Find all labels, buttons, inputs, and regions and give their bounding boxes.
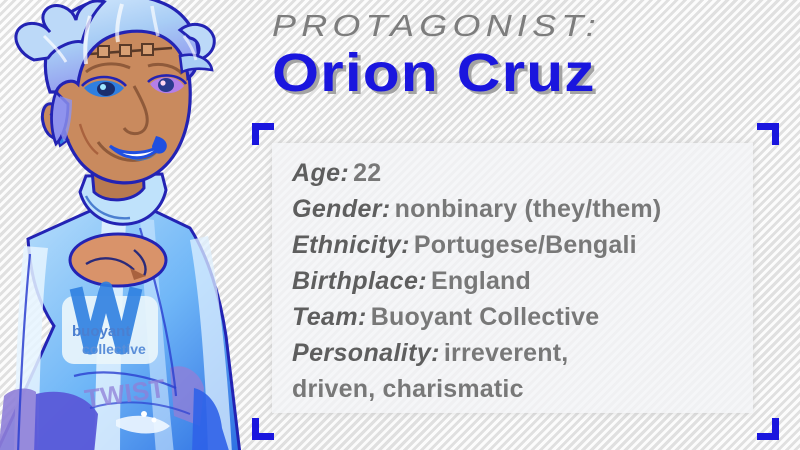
title-block: PROTAGONIST: Orion Cruz <box>272 8 792 112</box>
bracket-arm-vertical <box>772 123 779 145</box>
tattoo-box-3 <box>142 44 153 55</box>
page-title: Orion Cruz <box>272 42 800 104</box>
info-label: Birthplace: <box>292 267 427 295</box>
info-label: Gender: <box>292 195 391 223</box>
suit-emblem-dot-2 <box>152 418 157 423</box>
info-value: 22 <box>353 159 381 187</box>
tattoo-box-1 <box>98 46 109 57</box>
corner-bracket-top-right <box>757 123 779 145</box>
info-value: driven, charismatic <box>292 375 524 403</box>
character-portrait: buoyant collective TWIST <box>0 0 256 450</box>
page-kicker: PROTAGONIST: <box>272 8 800 44</box>
info-row-birthplace: Birthplace:England <box>292 263 753 299</box>
info-value: nonbinary (they/them) <box>395 195 662 223</box>
info-value: Portugese/Bengali <box>414 231 637 259</box>
info-row-age: Age:22 <box>292 155 753 191</box>
info-value: England <box>431 267 531 295</box>
team-logo-patch: buoyant collective <box>62 288 158 364</box>
tattoo-box-2 <box>120 45 131 56</box>
info-label: Personality: <box>292 339 440 367</box>
info-value: irreverent, <box>444 339 569 367</box>
patch-label-line2: collective <box>82 341 146 357</box>
info-label: Team: <box>292 303 367 331</box>
info-label: Ethnicity: <box>292 231 410 259</box>
eye-left-iris <box>97 82 115 96</box>
eye-left-highlight <box>100 84 106 90</box>
info-row-gender: Gender:nonbinary (they/them) <box>292 191 753 227</box>
info-label: Age: <box>292 159 349 187</box>
info-row-personality: Personality:irreverent, <box>292 335 753 371</box>
eye-right-highlight <box>160 80 165 85</box>
eye-right-iris <box>158 78 174 92</box>
info-row-ethnicity: Ethnicity:Portugese/Bengali <box>292 227 753 263</box>
info-value: Buoyant Collective <box>371 303 600 331</box>
info-row-personality-continued: driven, charismatic <box>292 371 753 407</box>
character-info-list: Age:22 Gender:nonbinary (they/them) Ethn… <box>272 143 753 407</box>
character-info-panel: Age:22 Gender:nonbinary (they/them) Ethn… <box>272 143 753 413</box>
info-row-team: Team:Buoyant Collective <box>292 299 753 335</box>
bracket-arm-vertical <box>772 418 779 440</box>
patch-label-line1: buoyant <box>72 323 130 340</box>
character-illustration: buoyant collective TWIST <box>0 0 256 450</box>
corner-bracket-bottom-right <box>757 418 779 440</box>
suit-emblem-dot-1 <box>141 411 147 417</box>
